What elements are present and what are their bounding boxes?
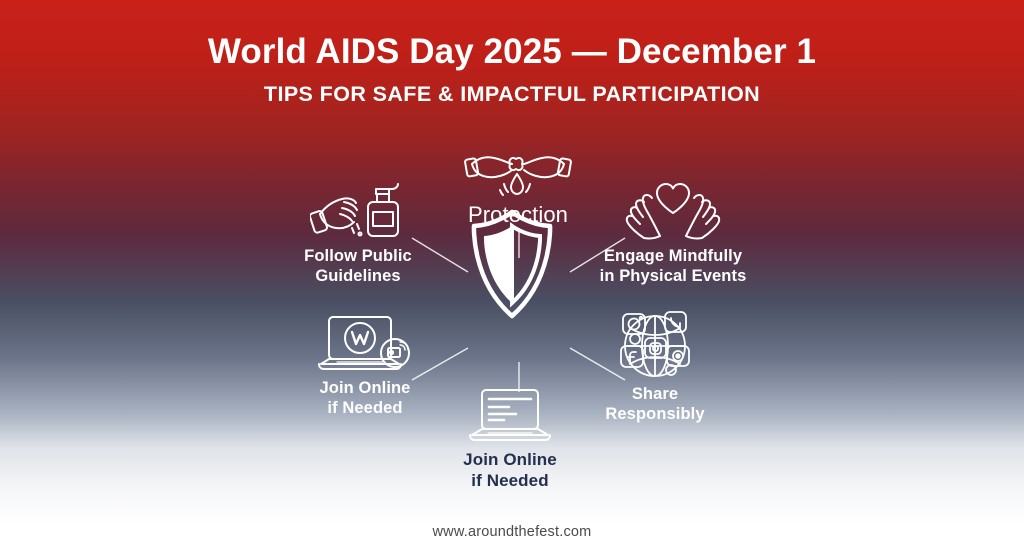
- node-join-online-bottom[interactable]: Join Online if Needed: [405, 386, 615, 491]
- node-join-online-left-line2: if Needed: [327, 399, 402, 417]
- node-guidelines-label-line2: Guidelines: [315, 267, 400, 285]
- laptop-webinar-icon: [311, 312, 419, 374]
- node-engage-label: Engage Mindfully in Physical Events: [568, 246, 778, 286]
- node-share-label-line1: Share: [632, 385, 678, 403]
- node-join-online-left-line1: Join Online: [320, 379, 411, 397]
- infographic-poster: World AIDS Day 2025 — December 1 TIPS FO…: [0, 0, 1024, 559]
- node-join-online-bottom-line2: if Needed: [471, 471, 548, 490]
- laptop-screen-icon: [464, 386, 556, 446]
- node-engage-label-line2: in Physical Events: [600, 267, 747, 285]
- node-guidelines-label-line1: Follow Public: [304, 247, 412, 265]
- node-share-label-line2: Responsibly: [605, 405, 704, 423]
- node-guidelines-label: Follow Public Guidelines: [253, 246, 463, 286]
- hands-holding-heart-icon: [622, 180, 724, 242]
- node-join-online-bottom-line1: Join Online: [463, 450, 557, 469]
- node-join-online-bottom-label: Join Online if Needed: [405, 450, 615, 491]
- node-engage[interactable]: Engage Mindfully in Physical Events: [568, 180, 778, 286]
- handwashing-icon: [464, 142, 572, 200]
- node-engage-label-line1: Engage Mindfully: [604, 247, 742, 265]
- node-guidelines[interactable]: Follow Public Guidelines: [253, 180, 463, 286]
- diagram: Protection: [0, 0, 1024, 559]
- social-media-globe-icon: [605, 308, 705, 380]
- hand-sanitizer-icon: [310, 180, 406, 242]
- footer-url[interactable]: www.aroundthefest.com: [0, 524, 1024, 540]
